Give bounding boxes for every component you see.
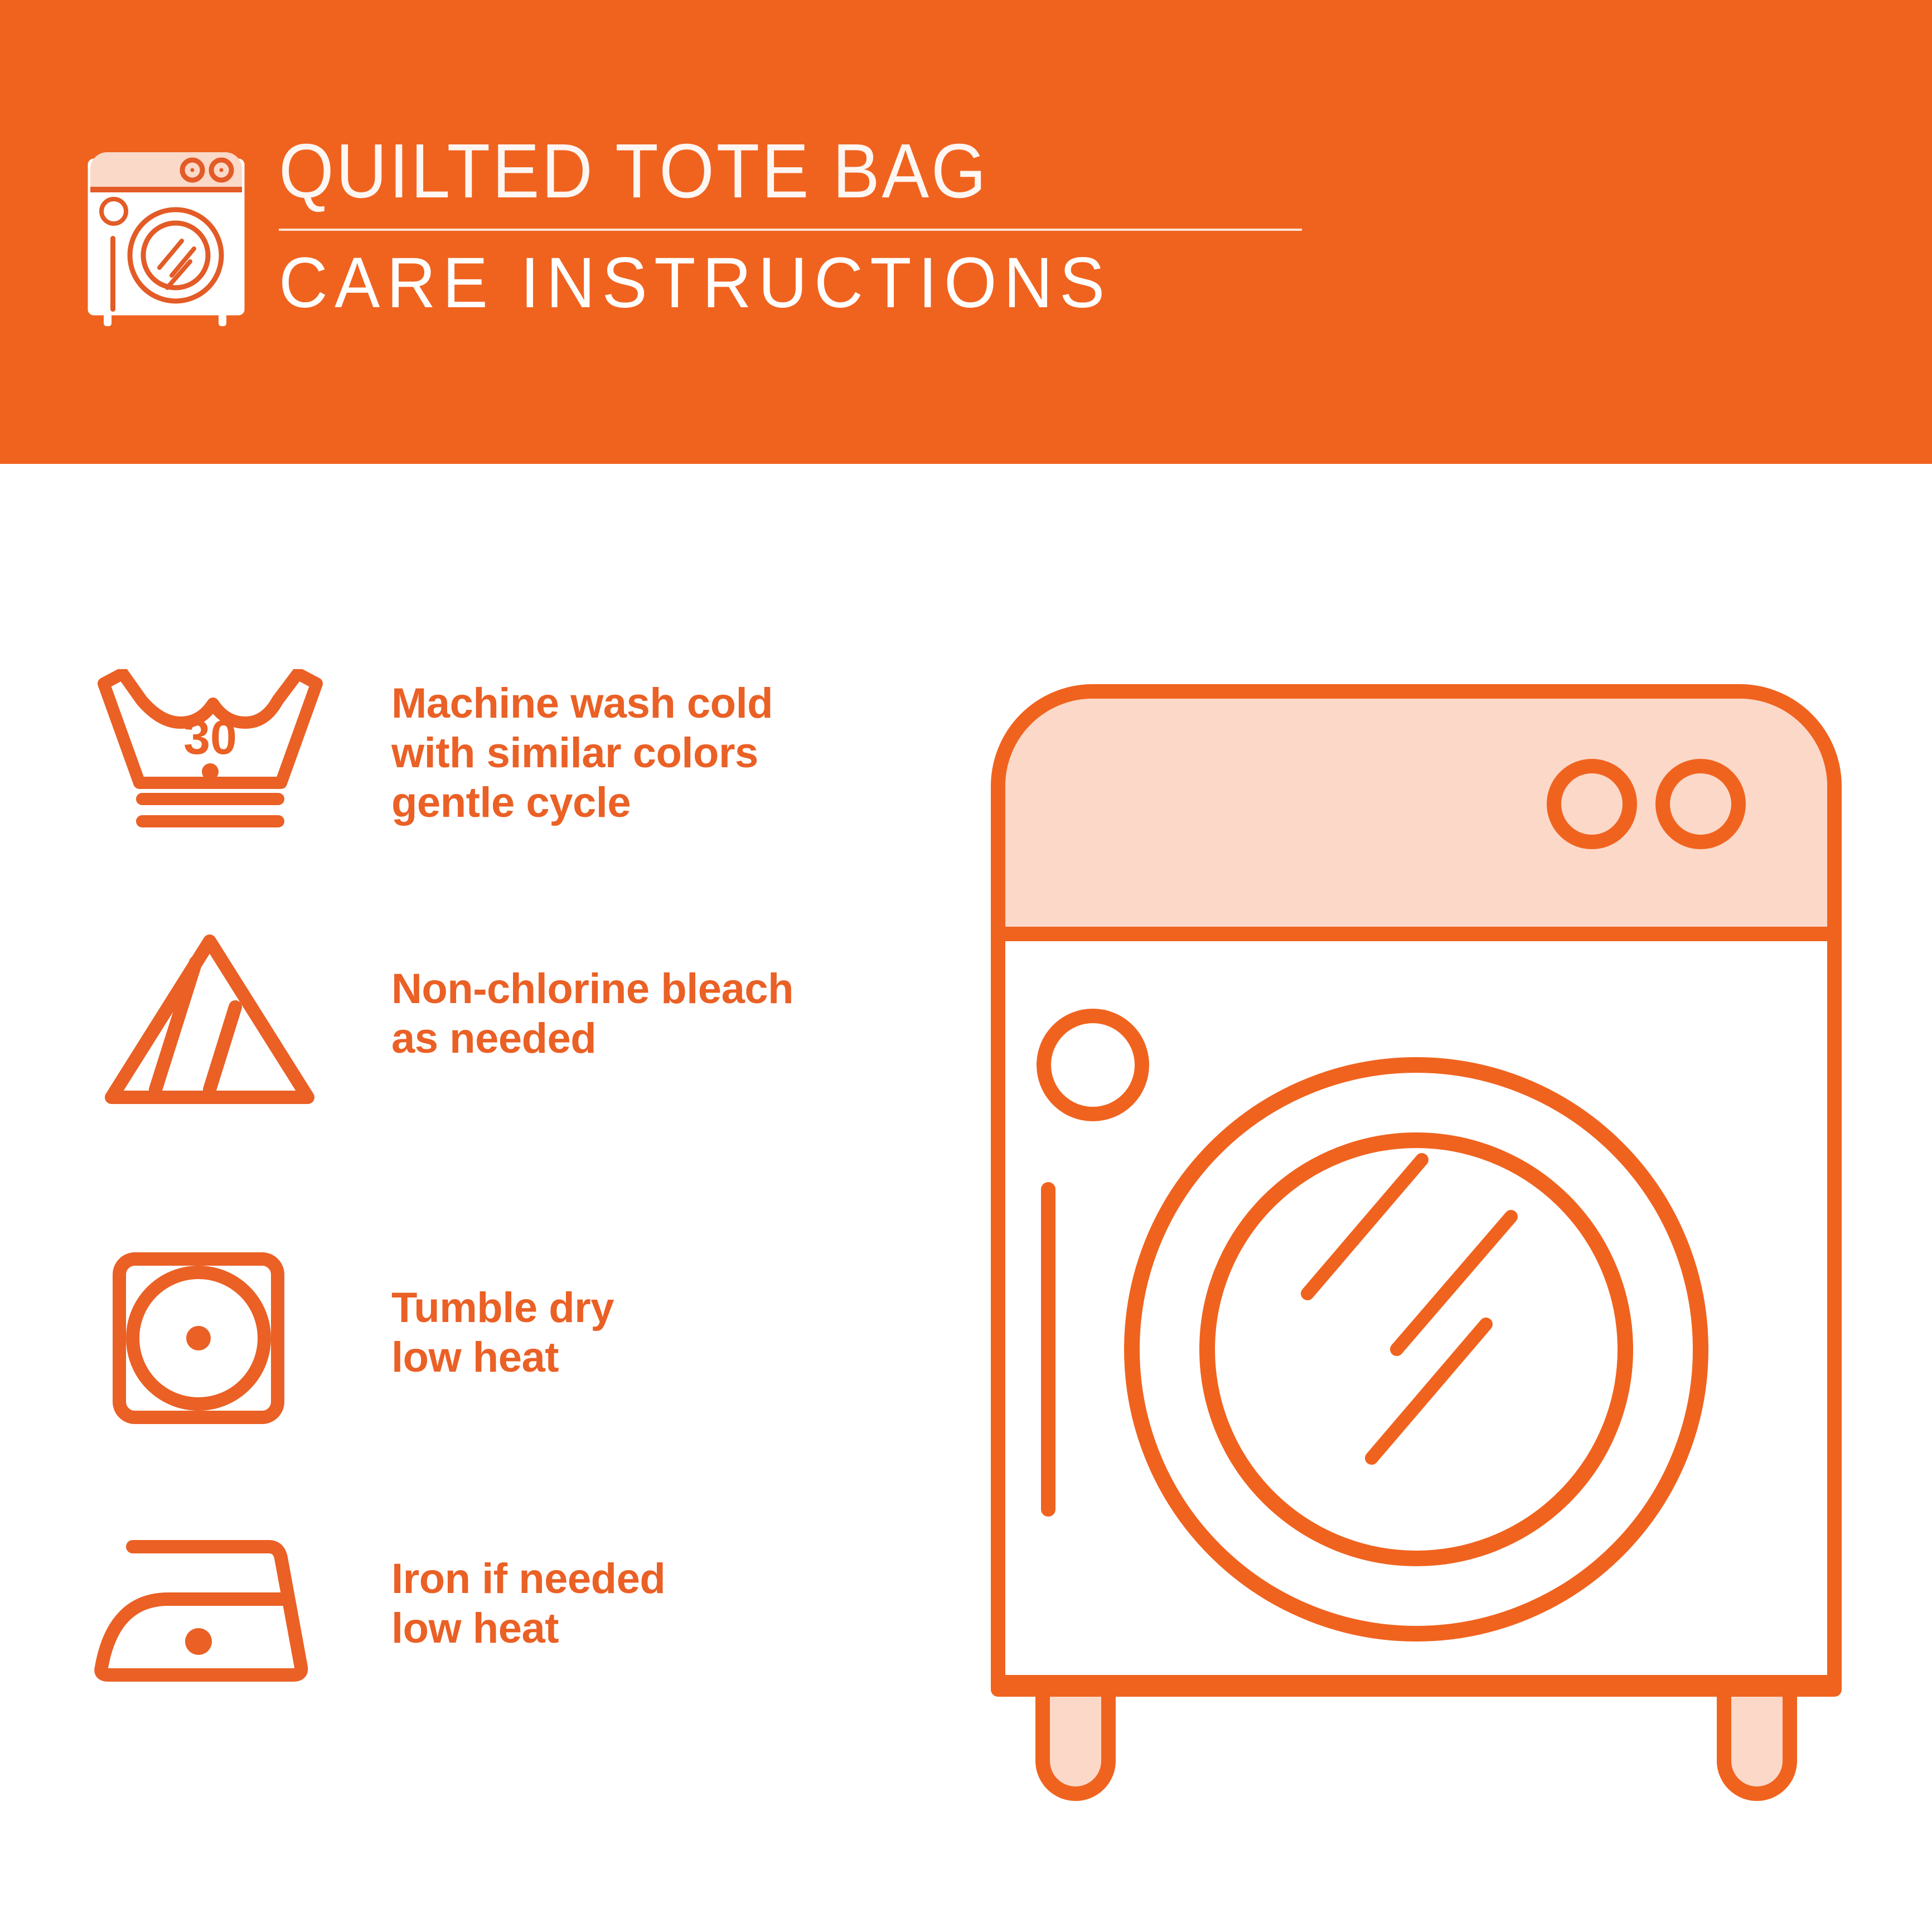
knob-right bbox=[1663, 766, 1739, 842]
page-subtitle: CARE INSTRUCTIONS bbox=[279, 248, 1253, 319]
knob-left bbox=[1554, 766, 1630, 842]
detergent-dispenser bbox=[1044, 1016, 1142, 1114]
bleach-triangle-icon bbox=[98, 929, 321, 1113]
care-text-wash: Machine wash cold with similar colors ge… bbox=[391, 679, 927, 828]
title-divider bbox=[279, 229, 1302, 231]
care-instructions-page: QUILTED TOTE BAG CARE INSTRUCTIONS 30 Ma… bbox=[0, 0, 1932, 1932]
iron-icon bbox=[89, 1521, 312, 1688]
care-symbol-list: 30 Machine wash cold with similar colors… bbox=[0, 464, 948, 1932]
header-text-block: QUILTED TOTE BAG CARE INSTRUCTIONS bbox=[279, 133, 1305, 319]
washing-machine-icon bbox=[83, 135, 250, 328]
header-banner: QUILTED TOTE BAG CARE INSTRUCTIONS bbox=[0, 0, 1932, 464]
page-title: QUILTED TOTE BAG bbox=[279, 133, 1223, 210]
door-handle bbox=[1041, 1182, 1055, 1517]
care-text-tumble-dry: Tumble dry low heat bbox=[391, 1284, 927, 1383]
care-text-iron: Iron if needed low heat bbox=[391, 1555, 927, 1654]
tumble-dry-square-icon bbox=[109, 1249, 288, 1427]
wash-tub-30-icon: 30 bbox=[94, 669, 328, 836]
leg-right bbox=[1724, 1689, 1790, 1794]
svg-text:30: 30 bbox=[183, 711, 237, 764]
care-text-bleach: Non-chlorine bleach as needed bbox=[391, 965, 938, 1064]
leg-left bbox=[1043, 1689, 1108, 1794]
large-washing-machine-illustration bbox=[965, 624, 1868, 1834]
